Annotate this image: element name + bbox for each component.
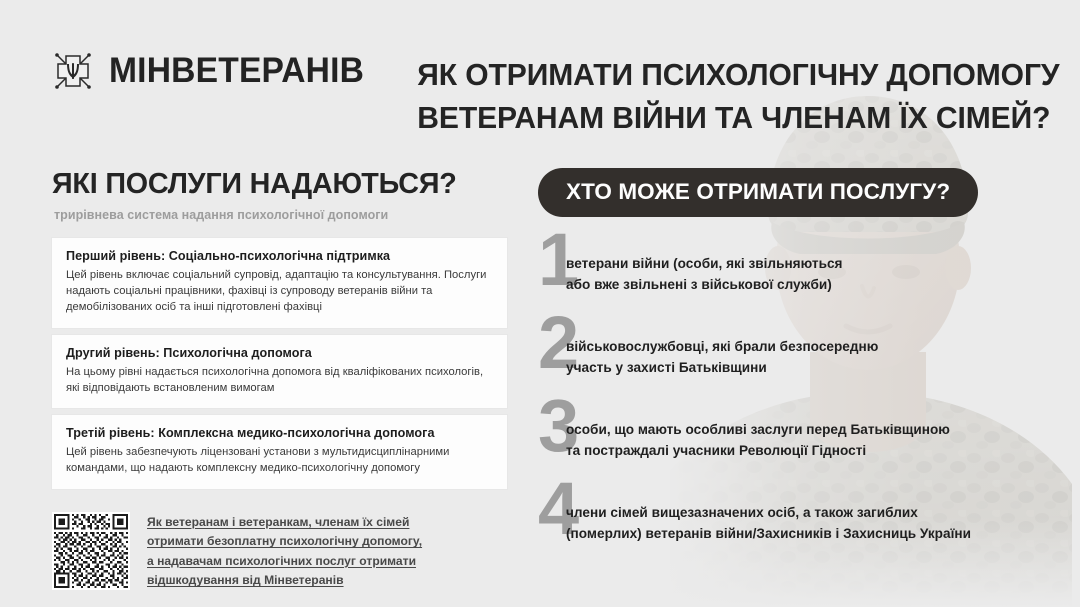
- list-item-line-2: або вже звільнені з військової служби): [566, 274, 1038, 295]
- eligibility-section-title: ХТО МОЖЕ ОТРИМАТИ ПОСЛУГУ?: [538, 168, 978, 217]
- list-item: 3 особи, що мають особливі заслуги перед…: [538, 401, 1038, 465]
- ministry-of-veterans-emblem-icon: [50, 48, 96, 94]
- services-section: ЯКІ ПОСЛУГИ НАДАЮТЬСЯ? трирівнева систем…: [52, 168, 507, 591]
- qr-link-line-1: Як ветеранам і ветеранкам, членам їх сім…: [147, 513, 422, 533]
- page-title-line-1: ЯК ОТРИМАТИ ПСИХОЛОГІЧНУ ДОПОМОГУ: [417, 54, 1028, 97]
- list-item-text: особи, що мають особливі заслуги перед Б…: [566, 401, 1038, 461]
- level-card-body: На цьому рівні надається психологічна до…: [66, 364, 493, 396]
- level-card: Перший рівень: Соціально-психологічна пі…: [52, 238, 507, 328]
- qr-code[interactable]: [52, 512, 130, 590]
- level-card-body: Цей рівень включає соціальний супровід, …: [66, 267, 493, 316]
- page-title: ЯК ОТРИМАТИ ПСИХОЛОГІЧНУ ДОПОМОГУ ВЕТЕРА…: [408, 54, 1028, 141]
- level-card-body: Цей рівень забезпечують ліцензовані уста…: [66, 444, 493, 476]
- list-item-line-2: (померлих) ветеранів війни/Захисників і …: [566, 523, 1038, 544]
- list-item: 4 члени сімей вищезазначених осіб, а так…: [538, 484, 1038, 548]
- logo-wordmark: МІНВЕТЕРАНІВ: [109, 51, 364, 91]
- services-section-title: ЯКІ ПОСЛУГИ НАДАЮТЬСЯ?: [52, 168, 502, 201]
- list-item-text: члени сімей вищезазначених осіб, а також…: [566, 484, 1038, 544]
- list-item: 2 військовослужбовці, які брали безпосер…: [538, 318, 1038, 382]
- eligibility-list: 1 ветерани війни (особи, які звільняютьс…: [538, 235, 1038, 548]
- list-item: 1 ветерани війни (особи, які звільняютьс…: [538, 235, 1038, 299]
- qr-link-text[interactable]: Як ветеранам і ветеранкам, членам їх сім…: [147, 513, 422, 591]
- list-item-line-2: участь у захисті Батьківщини: [566, 357, 1038, 378]
- list-item-line-1: ветерани війни (особи, які звільняються: [566, 253, 1038, 274]
- level-card-heading: Перший рівень: Соціально-психологічна пі…: [66, 249, 493, 263]
- infographic-poster: МІНВЕТЕРАНІВ ЯК ОТРИМАТИ ПСИХОЛОГІЧНУ ДО…: [0, 0, 1080, 607]
- page-title-line-2: ВЕТЕРАНАМ ВІЙНИ ТА ЧЛЕНАМ ЇХ СІМЕЙ?: [417, 97, 1028, 140]
- services-section-subtitle: трирівнева система надання психологічної…: [54, 208, 507, 222]
- brand-logo: МІНВЕТЕРАНІВ: [50, 48, 375, 94]
- qr-link-line-3: а надавачам психологічних послуг отримат…: [147, 552, 422, 572]
- list-item-text: ветерани війни (особи, які звільняються …: [566, 235, 1038, 295]
- qr-link-block: Як ветеранам і ветеранкам, членам їх сім…: [52, 512, 507, 591]
- level-card: Третій рівень: Комплексна медико-психоло…: [52, 415, 507, 488]
- list-item-line-1: військовослужбовці, які брали безпосеред…: [566, 336, 1038, 357]
- list-item-line-2: та постраждалі учасники Революції Гіднос…: [566, 440, 1038, 461]
- list-item-line-1: особи, що мають особливі заслуги перед Б…: [566, 419, 1038, 440]
- list-item-text: військовослужбовці, які брали безпосеред…: [566, 318, 1038, 378]
- level-card-heading: Третій рівень: Комплексна медико-психоло…: [66, 426, 493, 440]
- eligibility-section: ХТО МОЖЕ ОТРИМАТИ ПОСЛУГУ? 1 ветерани ві…: [538, 168, 1038, 548]
- qr-link-line-4: відшкодування від Мінветеранів: [147, 571, 422, 591]
- level-card: Другий рівень: Психологічна допомога На …: [52, 335, 507, 408]
- list-item-line-1: члени сімей вищезазначених осіб, а також…: [566, 502, 1038, 523]
- level-card-heading: Другий рівень: Психологічна допомога: [66, 346, 493, 360]
- qr-link-line-2: отримати безоплатну психологічну допомог…: [147, 532, 422, 552]
